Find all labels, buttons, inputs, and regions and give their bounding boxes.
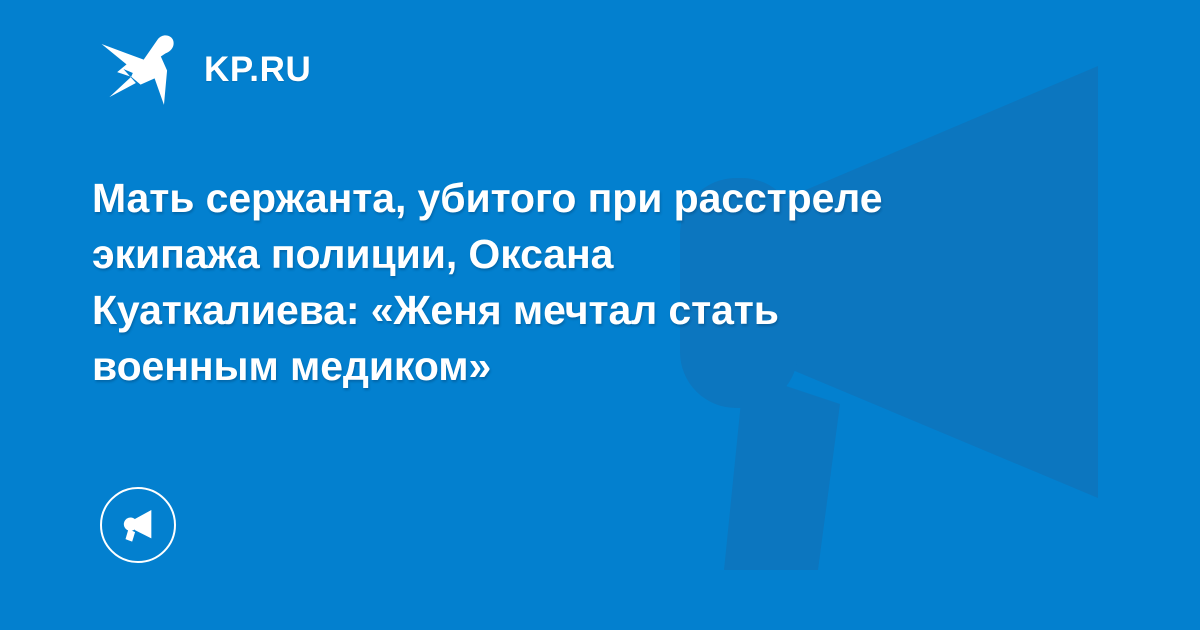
headline-line: военным медиком» (92, 338, 1092, 394)
headline: Мать сержанта, убитого при расстреле эки… (92, 170, 1092, 394)
brand-name-label: KP.RU (204, 52, 311, 87)
megaphone-icon (118, 505, 158, 545)
social-share-card: KP.RU Мать сержанта, убитого при расстре… (0, 0, 1200, 630)
headline-line: Мать сержанта, убитого при расстреле (92, 170, 1092, 226)
swallow-bird-icon (100, 30, 178, 108)
brand-logo[interactable]: KP.RU (100, 30, 311, 108)
headline-line: Куаткалиева: «Женя мечтал стать (92, 282, 1092, 338)
megaphone-badge[interactable] (100, 487, 176, 563)
headline-line: экипажа полиции, Оксана (92, 226, 1092, 282)
